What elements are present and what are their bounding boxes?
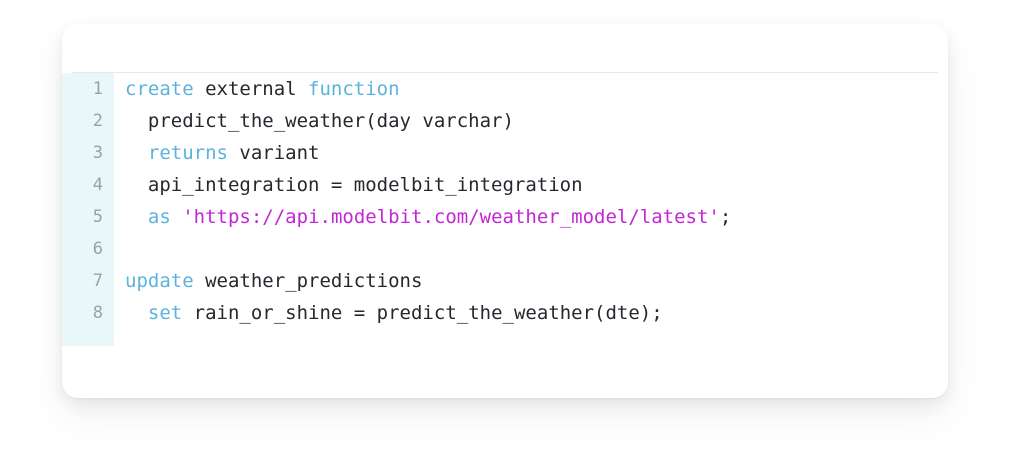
code-line[interactable]: 3 returns variant	[62, 137, 948, 169]
code-token-txt: api_integration = modelbit_integration	[125, 174, 583, 196]
code-line-content[interactable]: update weather_predictions	[114, 265, 948, 297]
code-line[interactable]: 5 as 'https://api.modelbit.com/weather_m…	[62, 201, 948, 233]
line-number: 3	[62, 137, 114, 169]
code-line-content[interactable]: create external function	[114, 73, 948, 105]
code-line-content[interactable]: set rain_or_shine = predict_the_weather(…	[114, 297, 948, 329]
code-line-content[interactable]: as 'https://api.modelbit.com/weather_mod…	[114, 201, 948, 233]
line-number: 5	[62, 201, 114, 233]
code-token-txt	[125, 206, 148, 228]
code-token-txt: rain_or_shine = predict_the_weather(dte)…	[182, 302, 662, 324]
line-number: 4	[62, 169, 114, 201]
line-number: 7	[62, 265, 114, 297]
code-token-txt: ;	[720, 206, 731, 228]
code-token-txt: predict_the_weather(day varchar)	[125, 110, 514, 132]
code-line[interactable]: 6	[62, 233, 948, 265]
code-token-kw: update	[125, 270, 194, 292]
code-token-txt: external	[194, 78, 308, 100]
line-number: 6	[62, 233, 114, 265]
code-line[interactable]: 8 set rain_or_shine = predict_the_weathe…	[62, 297, 948, 329]
code-line-content[interactable]: returns variant	[114, 137, 948, 169]
line-number: 1	[62, 73, 114, 105]
code-token-kw: returns	[148, 142, 228, 164]
code-token-txt	[125, 142, 148, 164]
code-line-content[interactable]: predict_the_weather(day varchar)	[114, 105, 948, 137]
code-token-txt	[125, 302, 148, 324]
code-snippet-card: 1create external function2 predict_the_w…	[62, 24, 948, 398]
code-token-kw: create	[125, 78, 194, 100]
code-token-kw: function	[308, 78, 400, 100]
code-token-txt	[171, 206, 182, 228]
code-line-content[interactable]	[114, 233, 948, 265]
code-token-kw: set	[148, 302, 182, 324]
code-line[interactable]: 1create external function	[62, 73, 948, 105]
code-token-txt: variant	[228, 142, 320, 164]
code-line[interactable]: 2 predict_the_weather(day varchar)	[62, 105, 948, 137]
code-lines: 1create external function2 predict_the_w…	[62, 73, 948, 329]
code-line[interactable]: 4 api_integration = modelbit_integration	[62, 169, 948, 201]
line-number: 2	[62, 105, 114, 137]
code-editor[interactable]: 1create external function2 predict_the_w…	[62, 73, 948, 398]
code-token-str: 'https://api.modelbit.com/weather_model/…	[182, 206, 720, 228]
code-line-content[interactable]: api_integration = modelbit_integration	[114, 169, 948, 201]
code-token-kw: as	[148, 206, 171, 228]
screenshot-root: 1create external function2 predict_the_w…	[0, 0, 1012, 466]
code-token-txt: weather_predictions	[194, 270, 423, 292]
editor-toolbar	[62, 24, 948, 72]
line-number: 8	[62, 297, 114, 329]
code-line[interactable]: 7update weather_predictions	[62, 265, 948, 297]
